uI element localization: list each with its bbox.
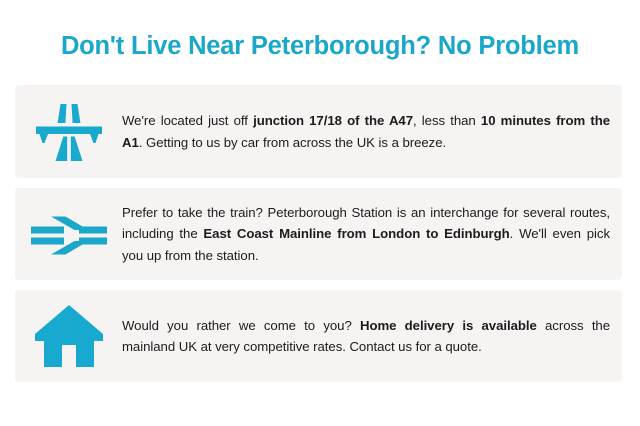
card-text-rail: Prefer to take the train? Peterborough S…: [122, 202, 622, 267]
motorway-icon: [15, 85, 122, 178]
text-part-2: , less than: [413, 113, 481, 128]
house-icon: [15, 290, 122, 382]
card-text-home-delivery: Would you rather we come to you? Home de…: [122, 315, 622, 358]
text-bold-1: junction 17/18 of the A47: [253, 113, 413, 128]
info-card-list: We're located just off junction 17/18 of…: [15, 85, 622, 382]
info-card-motorway: We're located just off junction 17/18 of…: [15, 85, 622, 178]
national-rail-icon: [15, 188, 122, 280]
card-text-motorway: We're located just off junction 17/18 of…: [122, 110, 622, 153]
info-card-rail: Prefer to take the train? Peterborough S…: [15, 188, 622, 280]
text-part-1: Would you rather we come to you?: [122, 318, 360, 333]
info-card-home-delivery: Would you rather we come to you? Home de…: [15, 290, 622, 382]
text-bold-1: Home delivery is available: [360, 318, 537, 333]
text-bold-1: East Coast Mainline from London to Edinb…: [203, 226, 509, 241]
page-title: Don't Live Near Peterborough? No Problem: [0, 31, 640, 61]
page-root: Don't Live Near Peterborough? No Problem: [0, 0, 640, 426]
text-part-1: We're located just off: [122, 113, 253, 128]
text-part-3: . Getting to us by car from across the U…: [139, 135, 446, 150]
